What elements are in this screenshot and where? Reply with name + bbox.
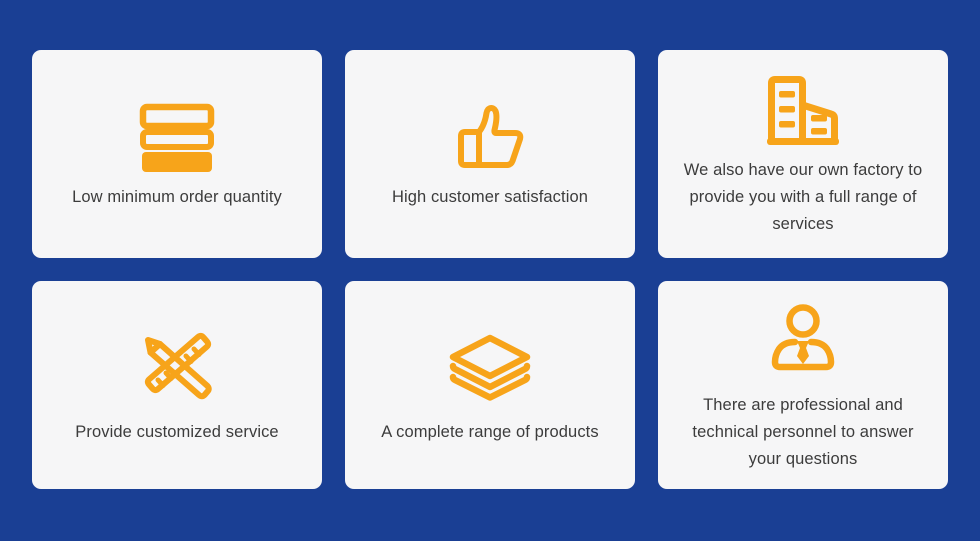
feature-card-technical-personnel[interactable]: There are professional and technical per… [658, 281, 948, 489]
feature-label: There are professional and technical per… [678, 392, 928, 473]
support-person-icon [767, 298, 839, 382]
factory-building-icon [765, 71, 841, 151]
layers-stack-icon [447, 325, 533, 409]
feature-label: A complete range of products [381, 419, 598, 446]
feature-card-complete-range-of-products[interactable]: A complete range of products [345, 281, 635, 489]
feature-card-own-factory[interactable]: We also have our own factory to provide … [658, 50, 948, 258]
feature-label: Provide customized service [75, 419, 278, 446]
thumbs-up-icon [454, 98, 526, 178]
pencil-ruler-icon [139, 325, 215, 409]
feature-card-high-customer-satisfaction[interactable]: High customer satisfaction [345, 50, 635, 258]
feature-card-low-minimum-order-quantity[interactable]: Low minimum order quantity [32, 50, 322, 258]
feature-label: Low minimum order quantity [72, 184, 282, 211]
features-grid: Low minimum order quantity High customer… [32, 50, 949, 489]
feature-label: We also have our own factory to provide … [678, 157, 928, 238]
feature-label: High customer satisfaction [392, 184, 588, 211]
feature-card-customized-service[interactable]: Provide customized service [32, 281, 322, 489]
stacked-bars-icon [138, 98, 216, 178]
